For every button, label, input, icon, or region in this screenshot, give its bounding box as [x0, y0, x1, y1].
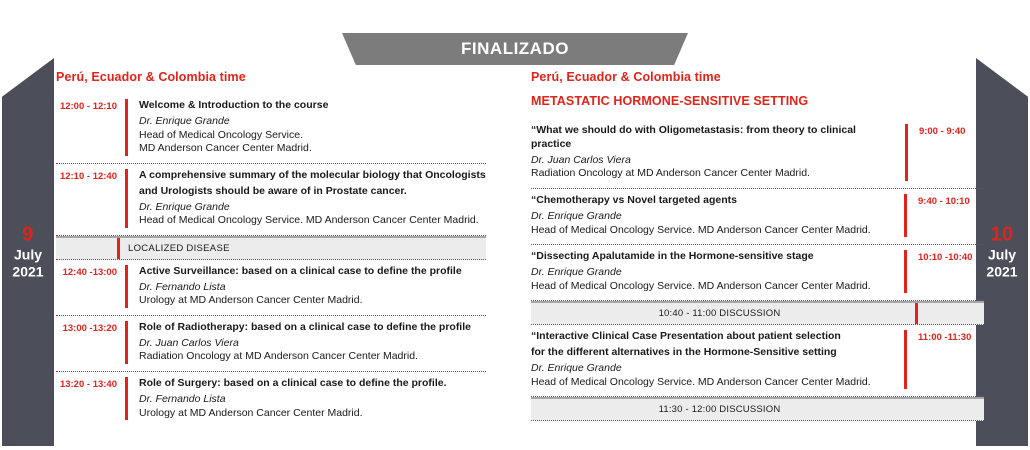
section-header-bar: LOCALIZED DISEASE [56, 236, 486, 260]
session-affiliation: Head of Medical Oncology Service. MD And… [531, 280, 893, 294]
session-body: Role of Radiotherapy: based on a clinica… [125, 321, 486, 364]
session-body: Welcome & Introduction to the course Dr.… [125, 99, 486, 156]
session-affiliation: Urology at MD Anderson Cancer Center Mad… [139, 407, 486, 421]
session-affiliation: Head of Medical Oncology Service. MD And… [531, 224, 893, 238]
session-body: Role of Surgery: based on a clinical cas… [125, 377, 486, 420]
timezone-heading-left: Perú, Ecuador & Colombia time [56, 70, 486, 85]
session-row: “Chemotherapy vs Novel targeted agents D… [531, 189, 984, 245]
session-time: 12:00 - 12:10 [56, 99, 125, 112]
session-speaker: Dr. Fernando Lista [139, 393, 486, 407]
session-body: Active Surveillance: based on a clinical… [125, 265, 486, 308]
session-time: 9:40 - 10:10 [904, 194, 984, 237]
session-title: Role of Radiotherapy: based on a clinica… [139, 321, 486, 335]
session-affiliation: Radiation Oncology at MD Anderson Cancer… [139, 350, 486, 364]
timezone-heading-right: Perú, Ecuador & Colombia time [531, 70, 984, 85]
date-day-left: 9 [2, 223, 54, 247]
agenda-column-day-10: Perú, Ecuador & Colombia time METASTATIC… [531, 70, 984, 421]
session-time: 12:40 -13:00 [56, 265, 125, 278]
session-title: for the different alternatives in the Ho… [531, 346, 893, 360]
session-time: 9:00 - 9:40 [905, 124, 984, 181]
session-title: “What we should do with Oligometastasis:… [531, 124, 894, 152]
session-row: 13:00 -13:20 Role of Radiotherapy: based… [56, 316, 486, 372]
session-body: “Chemotherapy vs Novel targeted agents D… [531, 194, 904, 237]
agenda-page: 9 July 2021 10 July 2021 FINALIZADO Perú… [0, 0, 1030, 450]
session-row: “Dissecting Apalutamide in the Hormone-s… [531, 245, 984, 301]
session-speaker: Dr. Enrique Grande [139, 115, 486, 129]
session-body: “Interactive Clinical Case Presentation … [531, 330, 904, 389]
session-row: 13:20 - 13:40 Role of Surgery: based on … [56, 372, 486, 427]
session-title: “Dissecting Apalutamide in the Hormone-s… [531, 250, 893, 264]
discussion-label: 11:30 - 12:00 DISCUSSION [531, 404, 984, 415]
session-title: A comprehensive summary of the molecular… [139, 169, 486, 183]
section-header-label: LOCALIZED DISEASE [56, 243, 230, 254]
red-rule-tick [915, 303, 918, 324]
status-badge: FINALIZADO [461, 39, 569, 59]
session-speaker: Dr. Juan Carlos Viera [531, 154, 894, 168]
session-affiliation: Urology at MD Anderson Cancer Center Mad… [139, 294, 486, 308]
discussion-bar: 10:40 - 11:00 DISCUSSION [531, 301, 984, 325]
red-rule-tick [117, 238, 120, 259]
session-body: “What we should do with Oligometastasis:… [531, 124, 905, 181]
date-month-left: July [2, 247, 54, 264]
section-subheading: METASTATIC HORMONE-SENSITIVE SETTING [531, 94, 984, 109]
session-title: Active Surveillance: based on a clinical… [139, 265, 486, 279]
session-affiliation: Radiation Oncology at MD Anderson Cancer… [531, 167, 894, 181]
session-time: 12:10 - 12:40 [56, 169, 125, 182]
session-time: 11:00 -11:30 [904, 330, 984, 389]
session-row: “What we should do with Oligometastasis:… [531, 119, 984, 189]
session-title: Welcome & Introduction to the course [139, 99, 486, 113]
session-title: “Chemotherapy vs Novel targeted agents [531, 194, 893, 208]
session-body: A comprehensive summary of the molecular… [125, 169, 486, 228]
date-year-left: 2021 [2, 264, 54, 281]
session-title: and Urologists should be aware of in Pro… [139, 185, 486, 199]
date-panel-left-inner: 9 July 2021 [2, 223, 54, 282]
session-affiliation: Head of Medical Oncology Service. MD And… [531, 376, 893, 390]
session-title: Role of Surgery: based on a clinical cas… [139, 377, 486, 391]
session-affiliation: Head of Medical Oncology Service. [139, 129, 486, 143]
session-speaker: Dr. Enrique Grande [531, 362, 893, 376]
session-row: “Interactive Clinical Case Presentation … [531, 325, 984, 397]
session-time: 13:00 -13:20 [56, 321, 125, 334]
session-body: “Dissecting Apalutamide in the Hormone-s… [531, 250, 904, 293]
session-affiliation: Head of Medical Oncology Service. MD And… [139, 214, 486, 228]
date-panel-day-9: 9 July 2021 [2, 58, 54, 446]
session-row: 12:40 -13:00 Active Surveillance: based … [56, 260, 486, 316]
session-row: 12:00 - 12:10 Welcome & Introduction to … [56, 94, 486, 164]
session-title: “Interactive Clinical Case Presentation … [531, 330, 893, 344]
session-time: 13:20 - 13:40 [56, 377, 125, 390]
session-speaker: Dr. Enrique Grande [139, 201, 486, 215]
status-banner: FINALIZADO [342, 33, 688, 65]
agenda-column-day-9: Perú, Ecuador & Colombia time 12:00 - 12… [56, 70, 486, 427]
session-speaker: Dr. Enrique Grande [531, 266, 893, 280]
session-speaker: Dr. Enrique Grande [531, 210, 893, 224]
session-row: 12:10 - 12:40 A comprehensive summary of… [56, 164, 486, 236]
session-speaker: Dr. Fernando Lista [139, 281, 486, 295]
session-time: 10:10 -10:40 [904, 250, 984, 293]
session-speaker: Dr. Juan Carlos Viera [139, 337, 486, 351]
discussion-bar: 11:30 - 12:00 DISCUSSION [531, 397, 984, 421]
session-affiliation: MD Anderson Cancer Center Madrid. [139, 142, 486, 156]
